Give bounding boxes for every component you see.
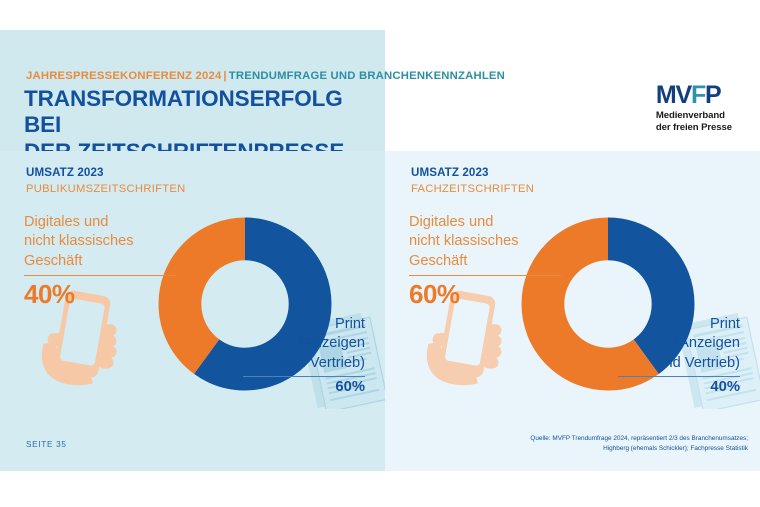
print-label-right: Print (Anzeigen und Vertrieb) 40% xyxy=(590,315,740,398)
print-label-right-line-2: (Anzeigen xyxy=(590,334,740,353)
digital-divider-left xyxy=(24,275,176,276)
source-line-1: Quelle: MVFP Trendumfrage 2024, repräsen… xyxy=(498,434,748,444)
print-label-right-line-1: Print xyxy=(590,315,740,334)
kicker-topic: TRENDUMFRAGE UND BRANCHENKENNZAHLEN xyxy=(229,70,505,82)
digital-label-right-line-1: Digitales und xyxy=(409,213,577,232)
print-label-left-line-1: Print xyxy=(215,315,365,334)
panel-subtitle-left: PUBLIKUMSZEITSCHRIFTEN xyxy=(26,183,186,195)
digital-label-left-line-3: Geschäft xyxy=(24,252,192,271)
digital-label-left-line-1: Digitales und xyxy=(24,213,192,232)
panel-subtitle-right: FACHZEITSCHRIFTEN xyxy=(411,183,534,195)
digital-label-left-line-2: nicht klassisches xyxy=(24,232,192,251)
logo-letter-f: F xyxy=(691,81,705,109)
source-line-2: Highberg (ehemals Schickler); Fachpresse… xyxy=(498,444,748,454)
panel-title-left: UMSATZ 2023 xyxy=(26,166,104,179)
page-title-line-1: TRANSFORMATIONSERFOLG BEI xyxy=(24,86,384,139)
logo-wordmark: MVFP xyxy=(656,83,732,108)
logo-subtitle-line-2: der freien Presse xyxy=(656,122,732,134)
panel-title-right: UMSATZ 2023 xyxy=(411,166,489,179)
page-number: SEITE 35 xyxy=(26,440,67,449)
print-label-left-line-2: (Anzeigen xyxy=(215,334,365,353)
header-kicker: JAHRESPRESSEKONFERENZ 2024|TRENDUMFRAGE … xyxy=(26,70,505,82)
print-label-left: Print (Anzeigen und Vertrieb) 60% xyxy=(215,315,365,398)
infographic-slide: JAHRESPRESSEKONFERENZ 2024|TRENDUMFRAGE … xyxy=(0,0,760,507)
print-percent-right: 40% xyxy=(590,378,740,398)
print-label-left-line-3: und Vertrieb) xyxy=(215,354,365,373)
digital-percent-right: 60% xyxy=(409,277,577,312)
logo-subtitle: Medienverband der freien Presse xyxy=(656,110,732,133)
digital-label-right-line-3: Geschäft xyxy=(409,252,577,271)
print-percent-left: 60% xyxy=(215,378,365,398)
source-citation: Quelle: MVFP Trendumfrage 2024, repräsen… xyxy=(498,434,748,453)
kicker-separator: | xyxy=(221,70,228,82)
print-label-right-line-3: und Vertrieb) xyxy=(590,354,740,373)
logo-letter-p: P xyxy=(705,81,720,109)
print-divider-right xyxy=(618,376,740,377)
kicker-event: JAHRESPRESSEKONFERENZ 2024 xyxy=(26,70,221,82)
logo-subtitle-line-1: Medienverband xyxy=(656,110,732,122)
panel-fachzeitschriften: UMSATZ 2023 FACHZEITSCHRIFTEN xyxy=(385,151,760,471)
digital-divider-right xyxy=(409,275,561,276)
digital-label-left: Digitales und nicht klassisches Geschäft… xyxy=(24,213,192,312)
panel-publikumszeitschriften: UMSATZ 2023 PUBLIKUMSZEITSCHRIFTEN xyxy=(0,151,385,471)
digital-label-right: Digitales und nicht klassisches Geschäft… xyxy=(409,213,577,312)
print-divider-left xyxy=(243,376,365,377)
logo-letters-mv: MV xyxy=(656,81,691,109)
mvfp-logo: MVFP Medienverband der freien Presse xyxy=(656,83,732,133)
digital-percent-left: 40% xyxy=(24,277,192,312)
digital-label-right-line-2: nicht klassisches xyxy=(409,232,577,251)
